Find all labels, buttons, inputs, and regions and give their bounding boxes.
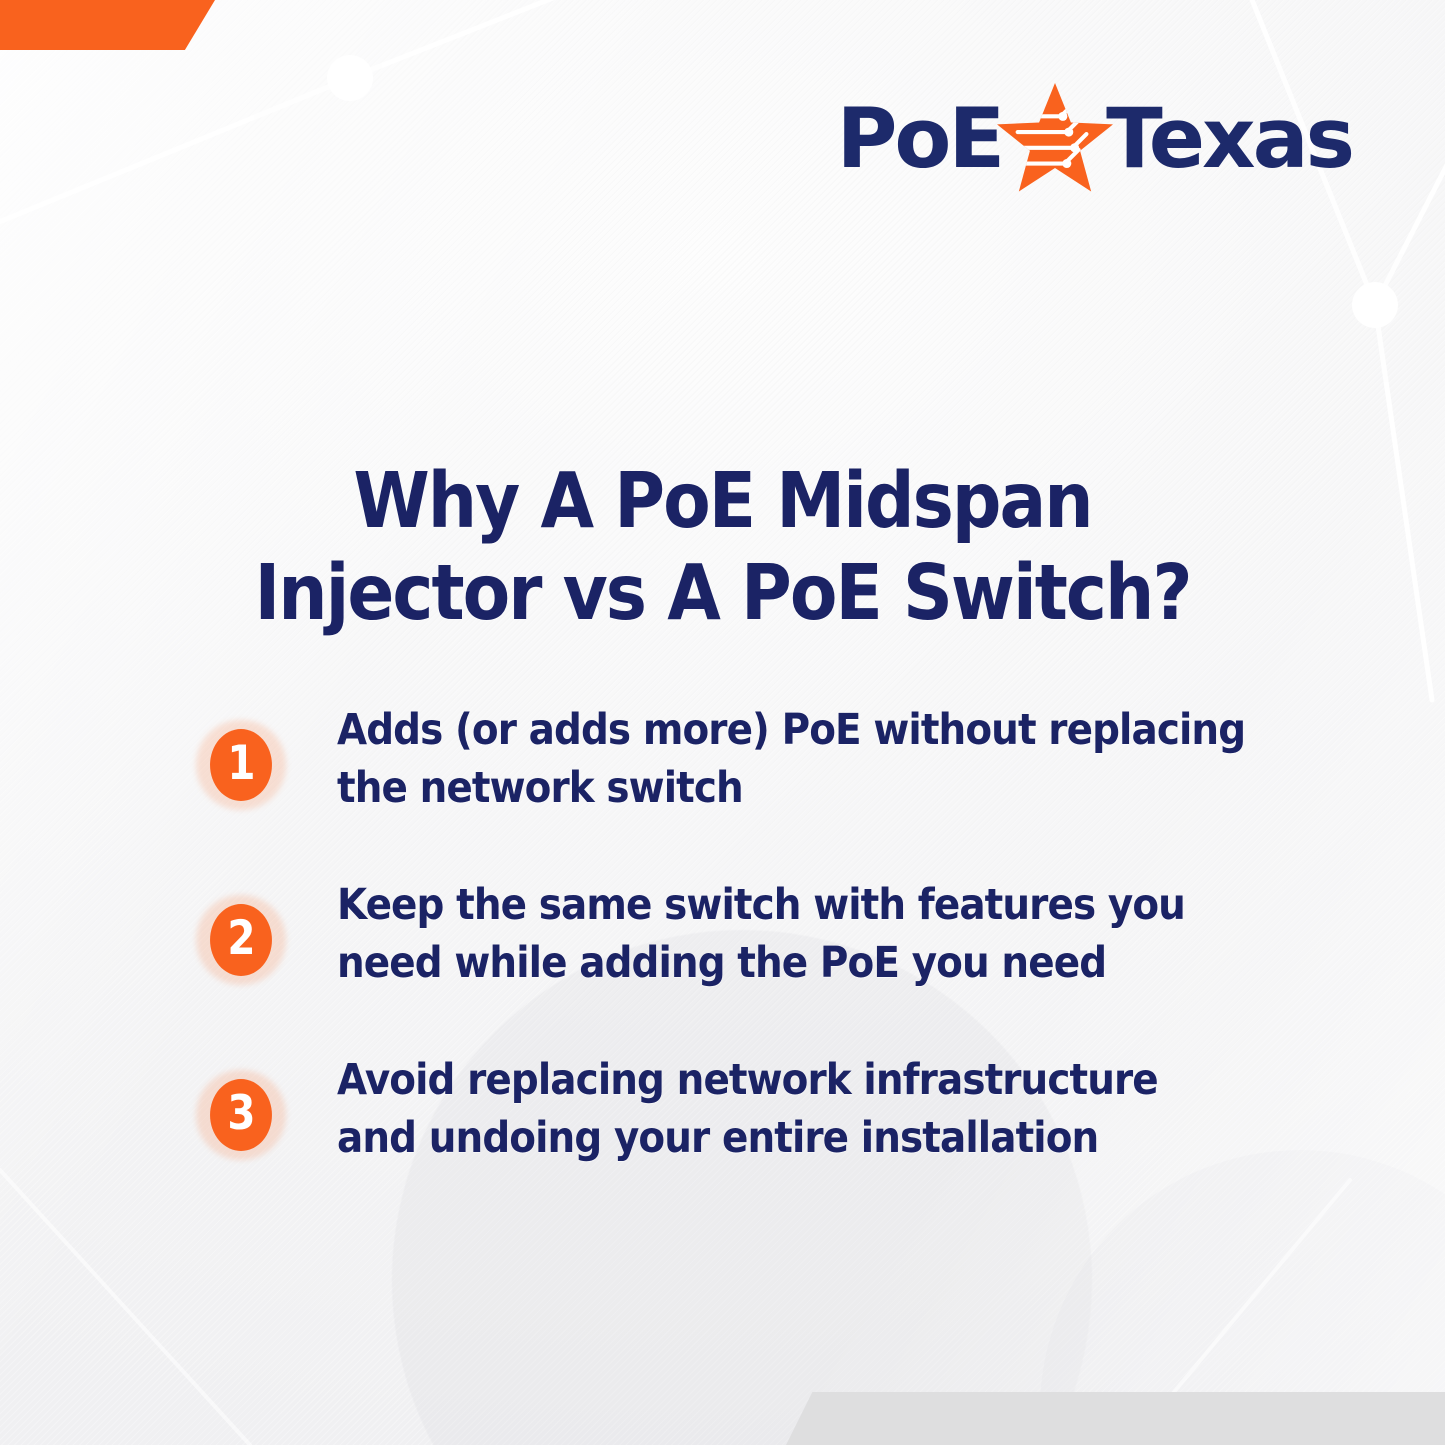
logo-word-texas: Texas <box>1106 97 1352 180</box>
list-item-line: Adds (or adds more) PoE without replacin… <box>337 701 1223 759</box>
badge-number: 2 <box>227 915 254 962</box>
list-item-line: Avoid replacing network infrastructure <box>337 1051 1223 1109</box>
badge-circle: 1 <box>210 729 272 801</box>
page-title: Why A PoE Midspan Injector vs A PoE Swit… <box>72 456 1373 640</box>
grey-angled-bar <box>786 1392 1445 1445</box>
badge-number: 1 <box>227 740 254 787</box>
badge-circle: 3 <box>210 1079 272 1151</box>
list-item-line: Keep the same switch with features you <box>337 876 1223 934</box>
logo-word-poe: PoE <box>837 97 1003 180</box>
title-line-1: Why A PoE Midspan <box>72 456 1373 548</box>
list-item-line: the network switch <box>337 759 1223 817</box>
list-item-text: Keep the same switch with features you n… <box>337 876 1223 992</box>
number-badge-3: 3 <box>196 1070 286 1160</box>
list-item-text: Avoid replacing network infrastructure a… <box>337 1051 1223 1167</box>
number-badge-2: 2 <box>196 895 286 985</box>
list-item: 1 Adds (or adds more) PoE without replac… <box>196 701 1316 876</box>
list-item: 2 Keep the same switch with features you… <box>196 876 1316 1051</box>
number-badge-1: 1 <box>196 720 286 810</box>
badge-number: 3 <box>227 1090 254 1137</box>
poe-texas-logo[interactable]: PoE Texas <box>822 88 1352 192</box>
list-item-line: need while adding the PoE you need <box>337 934 1223 992</box>
badge-circle: 2 <box>210 904 272 976</box>
infographic-canvas: PoE Texas Why A PoE <box>0 0 1445 1445</box>
list-item-line: and undoing your entire installation <box>337 1109 1223 1167</box>
list-item: 3 Avoid replacing network infrastructure… <box>196 1051 1316 1226</box>
title-line-2: Injector vs A PoE Switch? <box>72 548 1373 640</box>
orange-corner-flag <box>0 0 215 50</box>
list-item-text: Adds (or adds more) PoE without replacin… <box>337 701 1223 817</box>
circuit-star-icon <box>996 81 1114 193</box>
benefits-list: 1 Adds (or adds more) PoE without replac… <box>196 701 1316 1226</box>
